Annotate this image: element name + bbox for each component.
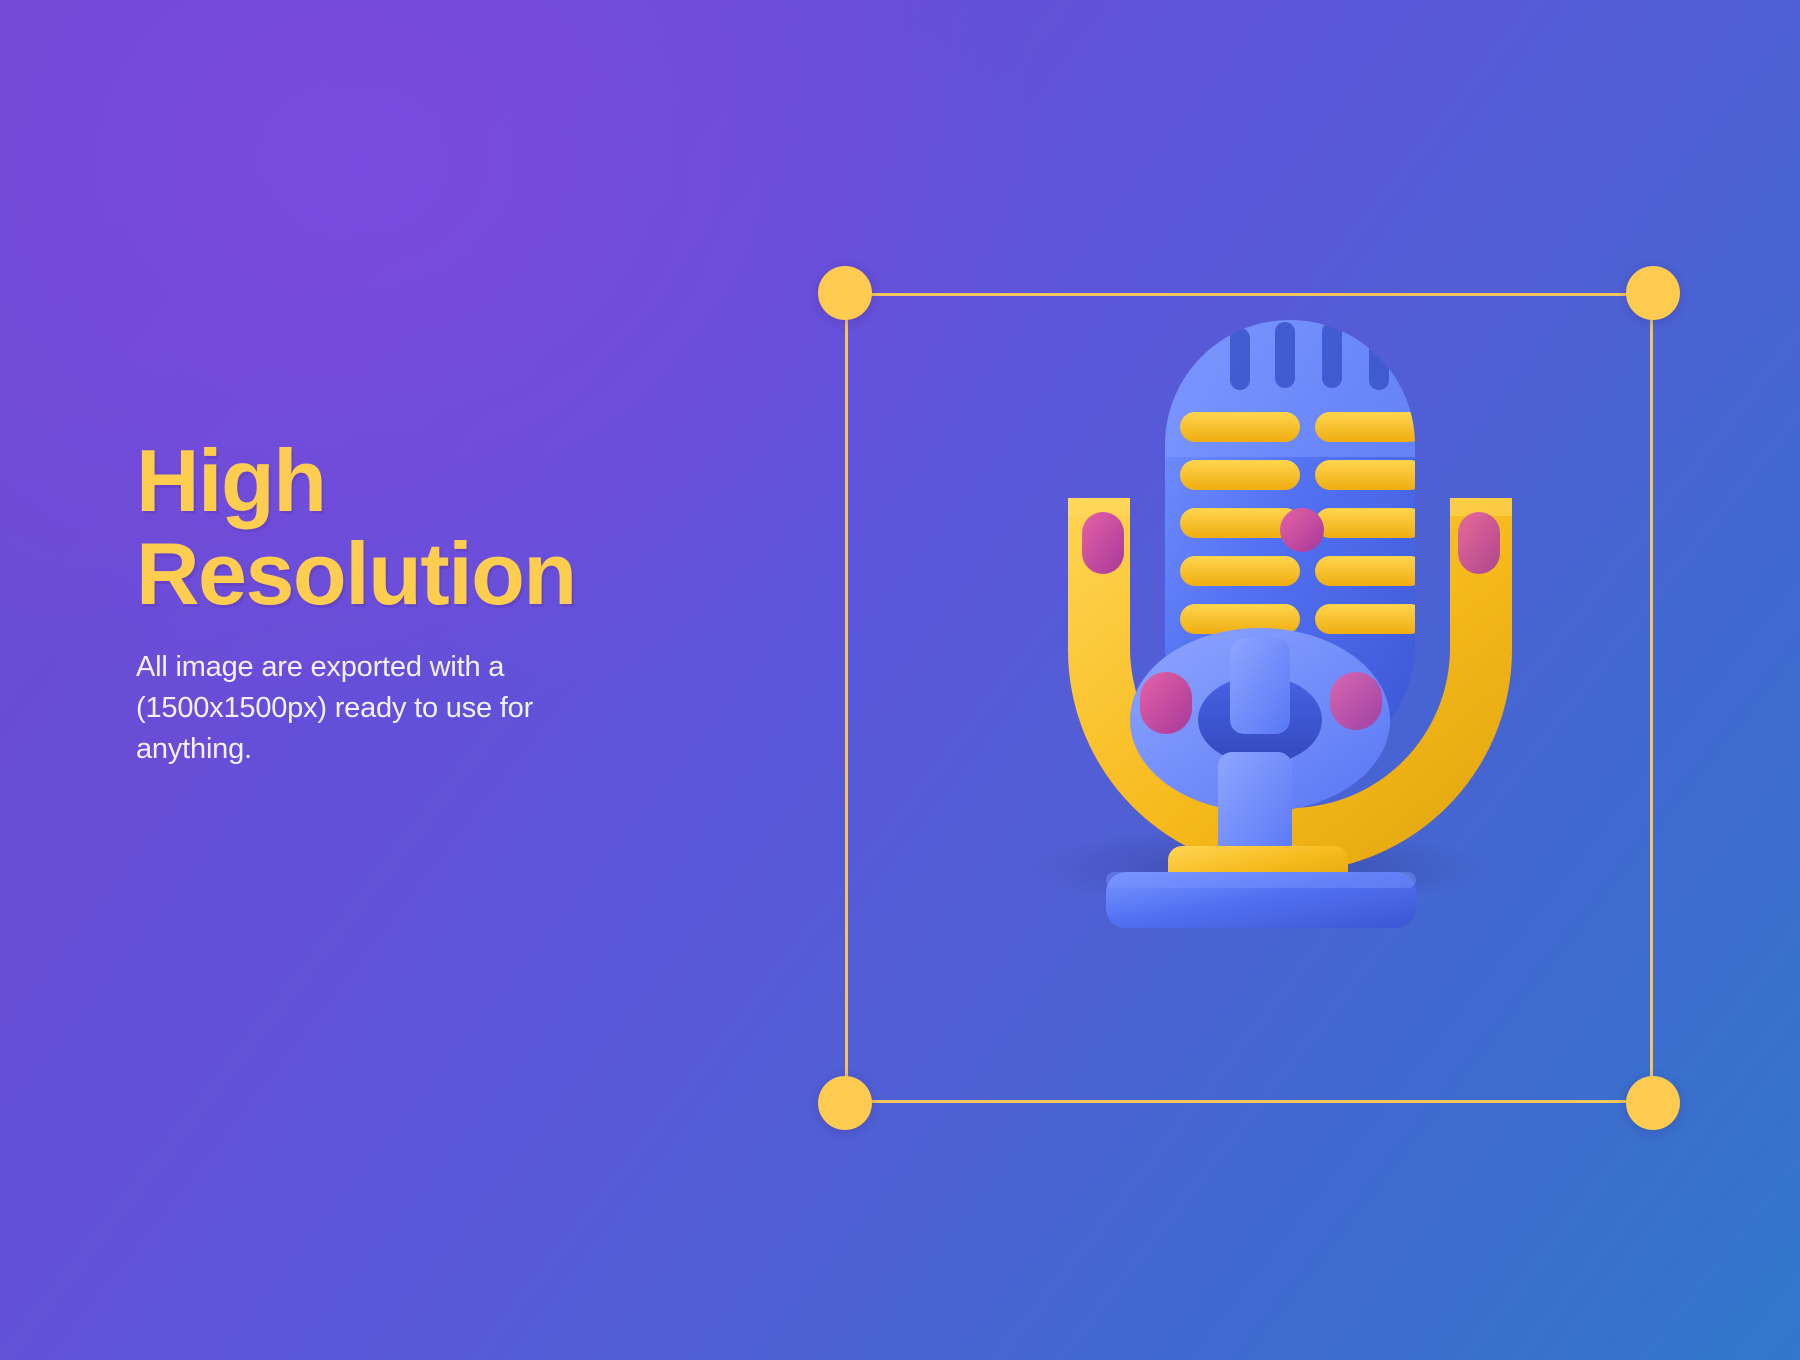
slide-canvas: High Resolution All image are exported w… (0, 0, 1800, 1360)
copy-block: High Resolution All image are exported w… (136, 434, 656, 770)
frame-edge-left (845, 293, 848, 1103)
frame-edge-right (1650, 293, 1653, 1103)
headline-line-2: Resolution (136, 527, 656, 620)
frame-edge-bottom (845, 1100, 1653, 1103)
subtitle-text: All image are exported with a (1500x1500… (136, 647, 586, 771)
frame-handle-top-left[interactable] (818, 266, 872, 320)
frame-handle-top-right[interactable] (1626, 266, 1680, 320)
page-title: High Resolution (136, 434, 656, 621)
selection-frame (845, 293, 1653, 1103)
frame-edge-top (845, 293, 1653, 296)
frame-handle-bottom-left[interactable] (818, 1076, 872, 1130)
headline-line-1: High (136, 434, 656, 527)
frame-handle-bottom-right[interactable] (1626, 1076, 1680, 1130)
